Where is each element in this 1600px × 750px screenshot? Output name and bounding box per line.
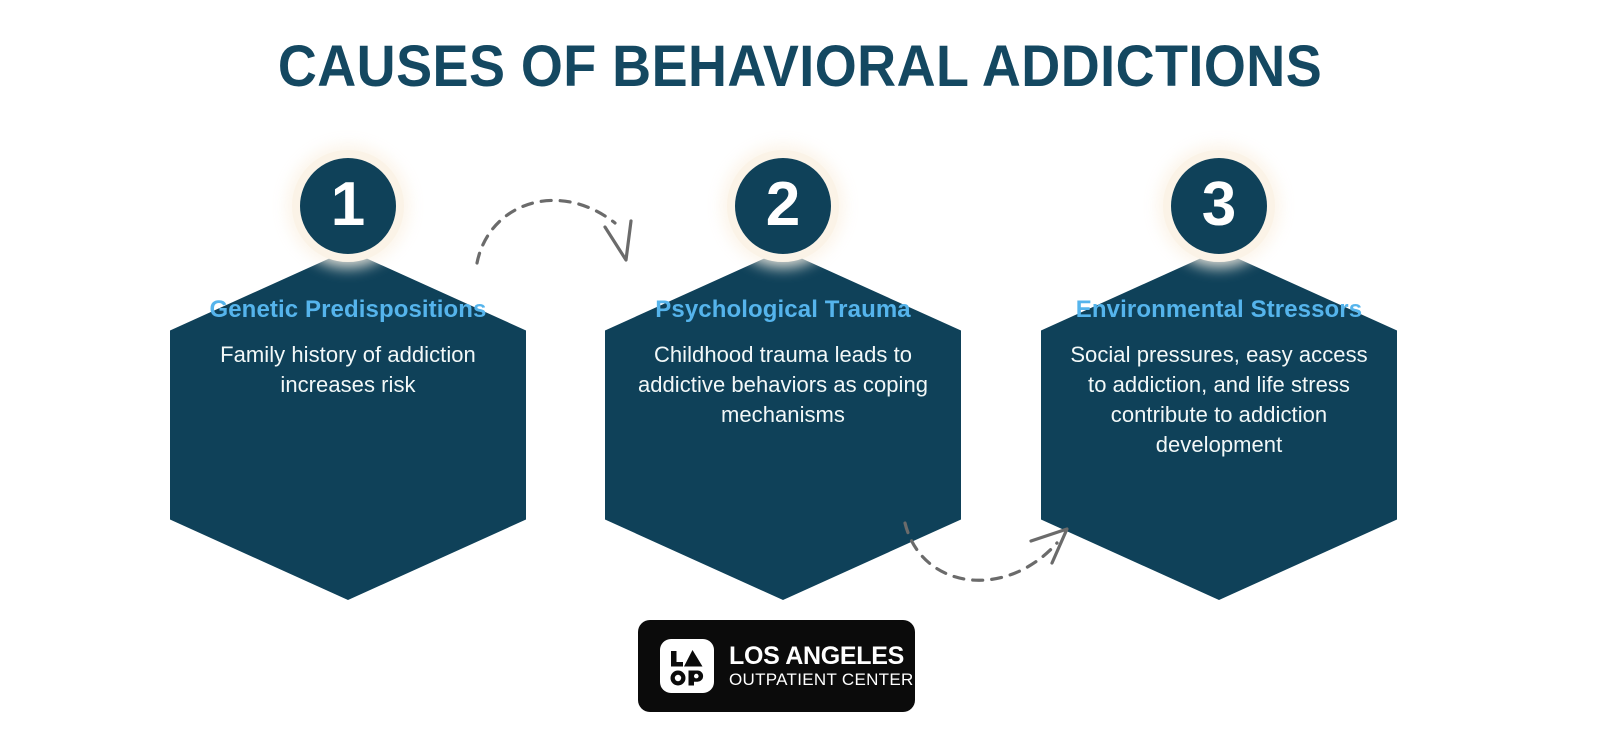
step-heading-2: Psychological Trauma (633, 292, 933, 327)
brand-logo[interactable]: LOS ANGELES OUTPATIENT CENTER (638, 620, 915, 712)
step-number-badge-3: 3 (1163, 150, 1275, 262)
step-card-3: Environmental Stressors Social pressures… (1041, 150, 1397, 610)
logo-wordmark: LOS ANGELES OUTPATIENT CENTER (729, 643, 914, 689)
step-content-1: Genetic Predispositions Family history o… (170, 250, 526, 600)
step-description-3: Social pressures, easy access to addicti… (1060, 340, 1378, 460)
logo-line-secondary: OUTPATIENT CENTER (729, 670, 914, 689)
step-number-1: 1 (331, 174, 365, 236)
step-content-2: Psychological Trauma Childhood trauma le… (605, 250, 961, 600)
infographic-canvas: CAUSES OF BEHAVIORAL ADDICTIONS Genetic … (0, 0, 1600, 750)
step-content-3: Environmental Stressors Social pressures… (1041, 250, 1397, 600)
page-title: CAUSES OF BEHAVIORAL ADDICTIONS (56, 34, 1544, 100)
laop-logo-mark-icon (660, 639, 714, 693)
step-card-2: Psychological Trauma Childhood trauma le… (605, 150, 961, 610)
step-number-badge-1: 1 (292, 150, 404, 262)
step-number-3: 3 (1202, 174, 1236, 236)
step-number-badge-2: 2 (727, 150, 839, 262)
step-card-1: Genetic Predispositions Family history o… (170, 150, 526, 610)
step-description-2: Childhood trauma leads to addictive beha… (624, 340, 942, 430)
step-number-2: 2 (766, 174, 800, 236)
step-description-1: Family history of addiction increases ri… (189, 340, 507, 400)
logo-line-primary: LOS ANGELES (729, 643, 914, 669)
step-heading-3: Environmental Stressors (1069, 292, 1369, 327)
step-heading-1: Genetic Predispositions (198, 292, 498, 327)
